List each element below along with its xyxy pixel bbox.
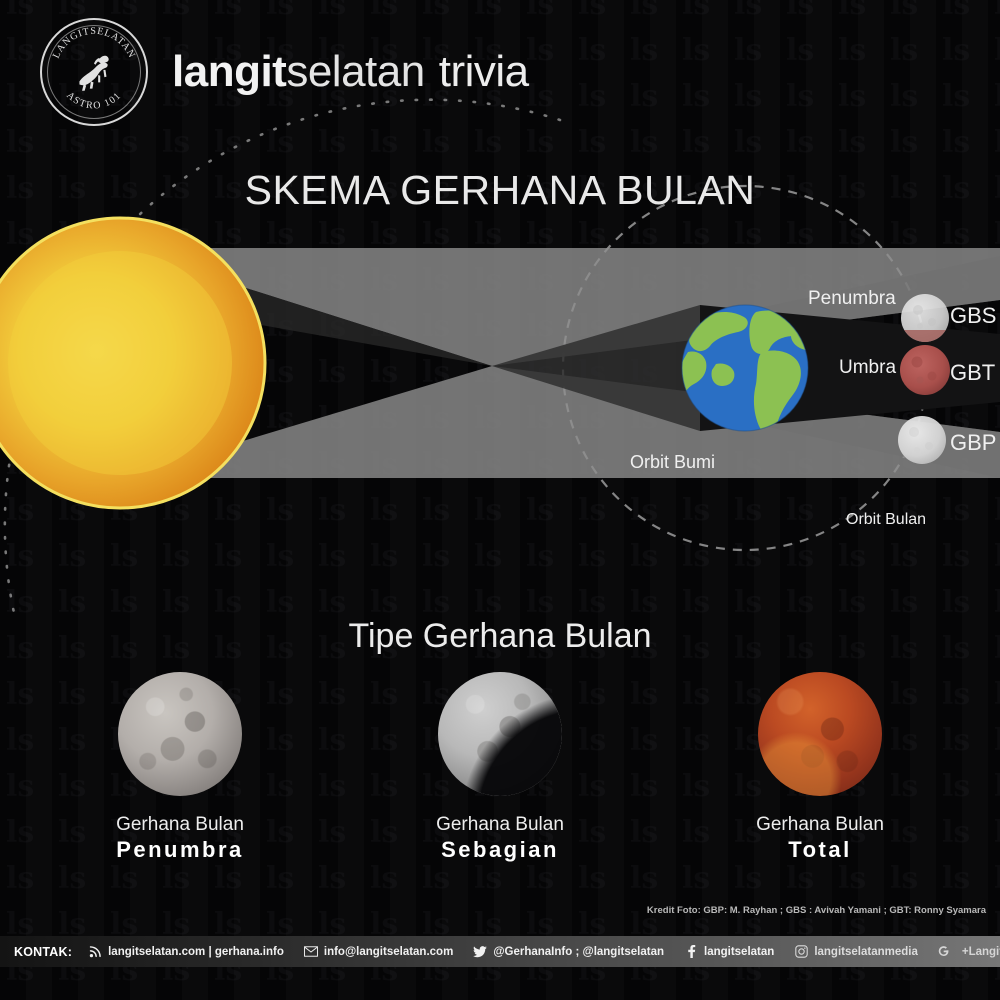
footer-twitter-text: @GerhanaInfo ; @langitselatan	[493, 946, 664, 958]
eclipse-type-partial: Gerhana Bulan Sebagian	[410, 672, 590, 864]
rss-icon	[88, 945, 102, 959]
photo-credit: Kredit Foto: GBP: M. Rayhan ; GBS : Aviv…	[647, 905, 986, 916]
footer-item-website[interactable]: langitselatan.com | gerhana.info	[78, 945, 294, 959]
langitselatan-logo: LANGITSELATAN ASTRO 101	[40, 18, 148, 126]
logo-top-text: LANGITSELATAN	[51, 26, 137, 60]
footer-facebook-text: langitselatan	[704, 946, 774, 958]
gbt-label: GBT	[950, 360, 995, 386]
brand-bold: langit	[172, 47, 286, 96]
footer-item-googleplus[interactable]: +LangitselatanMedia	[928, 945, 1000, 959]
brand-light: selatan	[286, 47, 424, 96]
penumbra-label: Penumbra	[808, 288, 896, 310]
type-caption-top: Gerhana Bulan	[90, 814, 270, 836]
type-caption-bottom: Sebagian	[410, 836, 590, 864]
googleplus-icon	[938, 945, 956, 959]
moon-gbp-icon	[898, 416, 946, 464]
footer-email-text: info@langitselatan.com	[324, 946, 453, 958]
footer-item-instagram[interactable]: langitselatanmedia	[784, 945, 928, 959]
orbit-bumi-label: Orbit Bumi	[630, 452, 715, 473]
gbp-label: GBP	[950, 430, 996, 456]
brand-trivia: trivia	[439, 47, 529, 96]
type-caption-bottom: Penumbra	[90, 836, 270, 864]
logo-bottom-text: ASTRO 101	[64, 90, 124, 112]
gbs-label: GBS	[950, 303, 996, 329]
footer-item-facebook[interactable]: langitselatan	[674, 945, 784, 959]
mail-icon	[304, 945, 318, 959]
eclipse-types-row: Gerhana Bulan Penumbra Gerhana Bulan Seb…	[0, 672, 1000, 872]
umbra-label: Umbra	[839, 357, 896, 379]
eclipse-type-total: Gerhana Bulan Total	[730, 672, 910, 864]
type-caption-top: Gerhana Bulan	[730, 814, 910, 836]
type-caption-bottom: Total	[730, 836, 910, 864]
page-title: SKEMA GERHANA BULAN	[0, 167, 1000, 214]
kontak-label: KONTAK:	[0, 945, 78, 959]
footer-googleplus-text: +LangitselatanMedia	[962, 946, 1000, 958]
moon-total-photo	[758, 672, 882, 796]
brand-wordmark: langitselatantrivia	[172, 47, 529, 97]
logo-ring-text: LANGITSELATAN ASTRO 101	[42, 20, 146, 124]
twitter-icon	[473, 945, 487, 959]
infographic-page: lslslslslslslslslslslslslslslslslslslsls…	[0, 0, 1000, 1000]
type-caption-top: Gerhana Bulan	[410, 814, 590, 836]
moon-penumbral-photo	[118, 672, 242, 796]
footer-instagram-text: langitselatanmedia	[814, 946, 918, 958]
moon-partial-photo	[438, 672, 562, 796]
svg-text:LANGITSELATAN: LANGITSELATAN	[51, 26, 137, 60]
orbit-bulan-label: Orbit Bulan	[846, 511, 926, 529]
types-section-title: Tipe Gerhana Bulan	[0, 617, 1000, 656]
facebook-icon	[684, 945, 698, 959]
contact-footer: KONTAK: langitselatan.com | gerhana.info…	[0, 936, 1000, 967]
footer-item-email[interactable]: info@langitselatan.com	[294, 945, 463, 959]
moon-gbt-icon	[900, 345, 950, 395]
crater-overlay	[118, 672, 242, 796]
footer-item-twitter[interactable]: @GerhanaInfo ; @langitselatan	[463, 945, 674, 959]
crater-overlay	[438, 672, 562, 796]
crater-overlay	[758, 672, 882, 796]
footer-website-text: langitselatan.com | gerhana.info	[108, 946, 284, 958]
header: LANGITSELATAN ASTRO 101 langitselatantri…	[40, 18, 529, 126]
svg-text:ASTRO 101: ASTRO 101	[64, 90, 124, 112]
instagram-icon	[794, 945, 808, 959]
sun-inner-glow	[8, 251, 232, 475]
eclipse-type-penumbral: Gerhana Bulan Penumbra	[90, 672, 270, 864]
